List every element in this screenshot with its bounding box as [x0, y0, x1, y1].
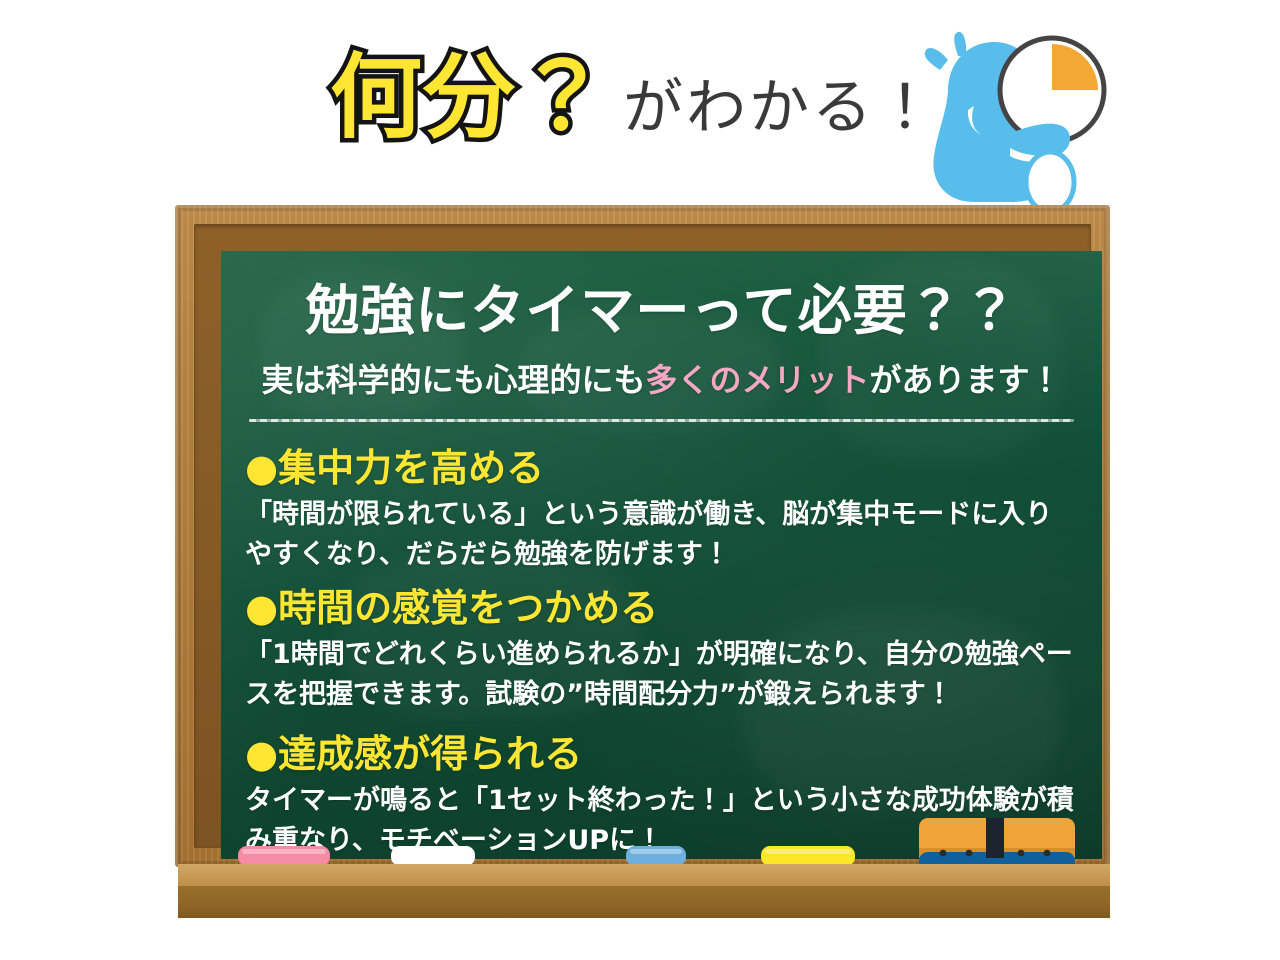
- white-chalk: [391, 846, 475, 866]
- header-area: 何分？ がわかる！: [0, 0, 1280, 205]
- title-main-text: 何分？: [330, 52, 609, 144]
- benefit-2-heading: ●時間の感覚をつかめる: [245, 587, 1078, 631]
- board-subline: 実は科学的にも心理的にも多くのメリットがあります！: [221, 361, 1102, 399]
- benefit-1-body: 「時間が限られている」という意識が働き、脳が集中モードに入りやすくなり、だらだら…: [245, 495, 1078, 575]
- benefit-3-heading: ●達成感が得られる: [245, 733, 1078, 777]
- pink-chalk: [238, 846, 330, 866]
- subline-suffix: があります！: [870, 361, 1062, 399]
- blue-chalk: [626, 846, 686, 866]
- mascot-illustration: [912, 22, 1132, 212]
- blackboard-surface: 勉強にタイマーって必要？？ 実は科学的にも心理的にも多くのメリットがあります！ …: [221, 251, 1102, 859]
- page-title: 何分？ がわかる！: [330, 52, 938, 144]
- chalk-tray: [178, 864, 1110, 918]
- subline-prefix: 実は科学的にも心理的にも: [261, 361, 645, 399]
- title-sub-text: がわかる！: [623, 78, 938, 144]
- chalk-tray-front: [178, 886, 1110, 918]
- yellow-chalk: [761, 846, 855, 866]
- blackboard-content: 勉強にタイマーって必要？？ 実は科学的にも心理的にも多くのメリットがあります！ …: [221, 251, 1102, 859]
- board-headline: 勉強にタイマーって必要？？: [221, 281, 1102, 340]
- benefit-section-1: ●集中力を高める 「時間が限られている」という意識が働き、脳が集中モードに入りや…: [245, 447, 1078, 575]
- benefit-1-heading: ●集中力を高める: [245, 447, 1078, 491]
- timer-wedge: [1052, 44, 1098, 90]
- subline-highlight: 多くのメリット: [645, 361, 869, 399]
- blackboard-frame: 勉強にタイマーって必要？？ 実は科学的にも心理的にも多くのメリットがあります！ …: [175, 205, 1110, 867]
- chalk-tray-top: [178, 864, 1110, 886]
- benefit-section-2: ●時間の感覚をつかめる 「1時間でどれくらい進められるか」が明確になり、自分の勉…: [245, 587, 1078, 715]
- mascot-elephant-icon: [912, 22, 1132, 212]
- benefit-2-body: 「1時間でどれくらい進められるか」が明確になり、自分の勉強ペースを把握できます。…: [245, 635, 1078, 715]
- chalk-divider-line: [249, 419, 1074, 422]
- poster-canvas: 何分？ がわかる！: [0, 0, 1280, 960]
- blackboard-bevel: 勉強にタイマーって必要？？ 実は科学的にも心理的にも多くのメリットがあります！ …: [194, 224, 1091, 848]
